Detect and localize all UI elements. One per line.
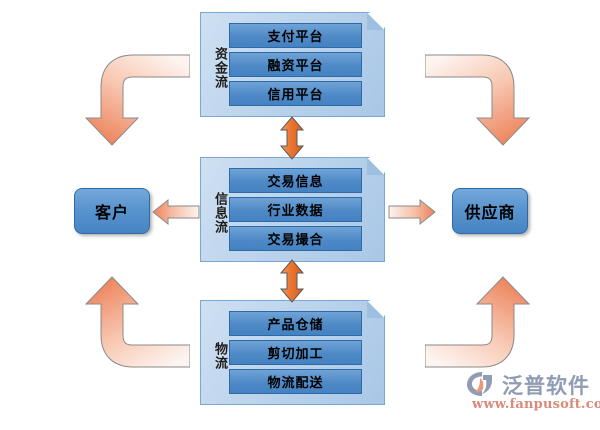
brand-logo: 泛普软件 www.fanpusoft.com — [466, 370, 596, 418]
flow-group-logistics-label: 物流 — [201, 301, 227, 404]
connector-information-customer — [152, 196, 200, 228]
item-logistics-delivery[interactable]: 物流配送 — [229, 369, 362, 394]
logo-company-name: 泛普软件 — [502, 370, 590, 400]
endpoint-customer[interactable]: 客户 — [74, 188, 150, 234]
flow-group-information: 信息流 交易信息 行业数据 交易撮合 — [200, 157, 385, 262]
logo-mark-icon — [466, 371, 500, 397]
item-transaction-info[interactable]: 交易信息 — [229, 168, 362, 193]
flow-group-logistics-items: 产品仓储 剪切加工 物流配送 — [227, 301, 384, 404]
flow-group-capital-items: 支付平台 融资平台 信用平台 — [227, 13, 384, 116]
item-credit-platform[interactable]: 信用平台 — [229, 81, 362, 106]
flow-group-capital: 资金流 支付平台 融资平台 信用平台 — [200, 12, 385, 117]
flow-group-information-items: 交易信息 行业数据 交易撮合 — [227, 158, 384, 261]
logo-website-url: www.fanpusoft.com — [472, 397, 600, 412]
connector-capital-customer — [80, 50, 190, 150]
connector-logistics-customer — [80, 272, 190, 372]
item-financing-platform[interactable]: 融资平台 — [229, 52, 362, 77]
item-payment-platform[interactable]: 支付平台 — [229, 23, 362, 48]
flow-group-information-label: 信息流 — [201, 158, 227, 261]
connector-information-logistics — [279, 259, 305, 303]
diagram-canvas: 资金流 支付平台 融资平台 信用平台 信息流 交易信息 行业数据 交易撮合 物流… — [0, 0, 600, 430]
connector-capital-supplier — [425, 50, 535, 150]
connector-capital-information — [279, 116, 305, 160]
item-product-warehousing[interactable]: 产品仓储 — [229, 311, 362, 336]
item-transaction-matching[interactable]: 交易撮合 — [229, 226, 362, 251]
item-industry-data[interactable]: 行业数据 — [229, 197, 362, 222]
flow-group-logistics: 物流 产品仓储 剪切加工 物流配送 — [200, 300, 385, 405]
endpoint-supplier[interactable]: 供应商 — [452, 188, 528, 234]
flow-group-capital-label: 资金流 — [201, 13, 227, 116]
item-cutting-processing[interactable]: 剪切加工 — [229, 340, 362, 365]
connector-logistics-supplier — [425, 272, 535, 372]
connector-information-supplier — [388, 196, 436, 228]
